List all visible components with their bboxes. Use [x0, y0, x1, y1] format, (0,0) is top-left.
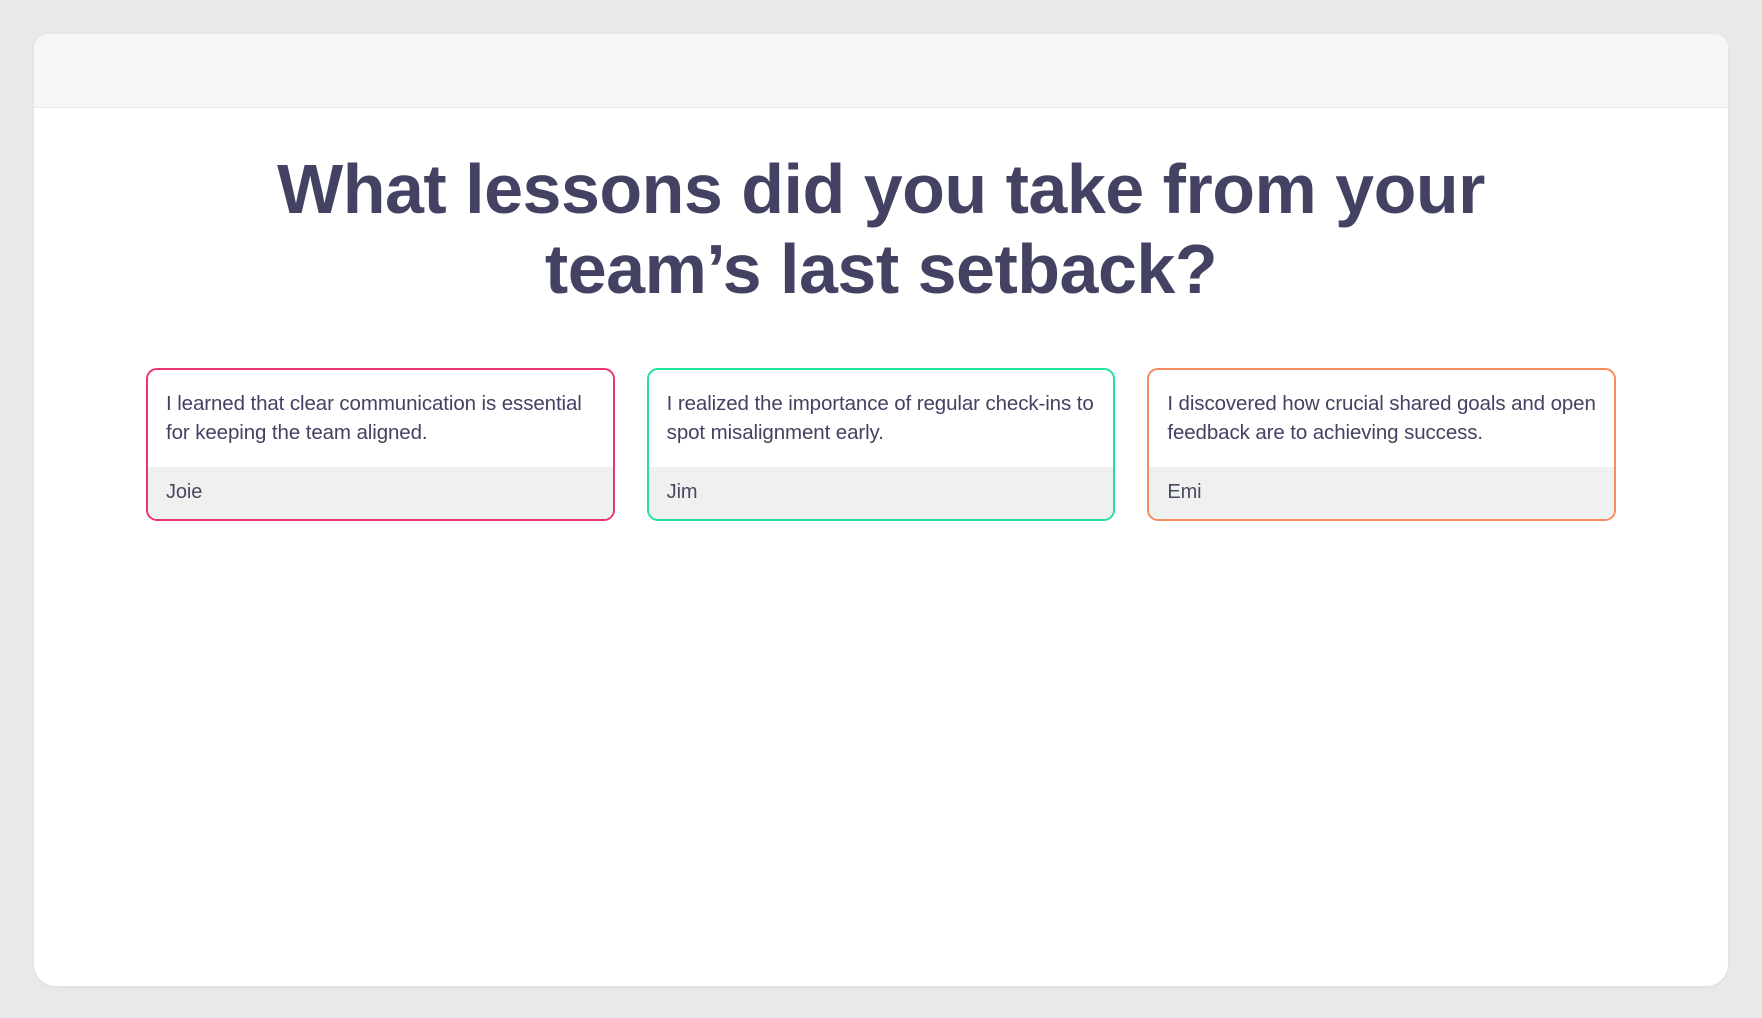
response-card-body: I discovered how crucial shared goals an… [1149, 370, 1614, 467]
slide-content: What lessons did you take from your team… [34, 150, 1728, 986]
question-title: What lessons did you take from your team… [146, 150, 1616, 310]
responses-list: I learned that clear communication is es… [146, 368, 1616, 521]
response-card-body: I realized the importance of regular che… [649, 370, 1114, 467]
response-text: I realized the importance of regular che… [667, 389, 1096, 447]
response-card[interactable]: I realized the importance of regular che… [647, 368, 1116, 521]
response-card-footer: Jim [649, 467, 1114, 519]
response-text: I discovered how crucial shared goals an… [1167, 389, 1596, 447]
response-card-body: I learned that clear communication is es… [148, 370, 613, 467]
response-author: Joie [166, 480, 595, 504]
response-author: Jim [667, 480, 1096, 504]
window-toolbar [34, 34, 1728, 108]
response-card-footer: Emi [1149, 467, 1614, 519]
response-author: Emi [1167, 480, 1596, 504]
presentation-window: What lessons did you take from your team… [34, 34, 1728, 986]
response-card-footer: Joie [148, 467, 613, 519]
app-frame: What lessons did you take from your team… [0, 0, 1762, 1018]
response-card[interactable]: I discovered how crucial shared goals an… [1147, 368, 1616, 521]
response-text: I learned that clear communication is es… [166, 389, 595, 447]
response-card[interactable]: I learned that clear communication is es… [146, 368, 615, 521]
